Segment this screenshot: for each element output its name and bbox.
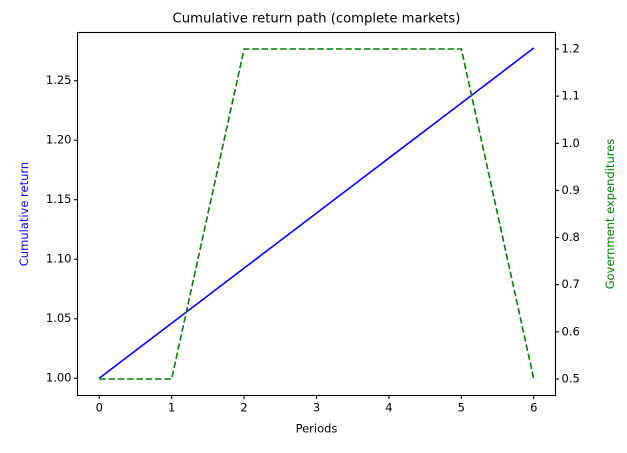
figure-canvas: Cumulative return path (complete markets… <box>0 0 627 453</box>
y-right-tick-label: 0.7 <box>562 277 580 291</box>
y-right-tick-label: 0.6 <box>562 324 580 338</box>
x-tick-label: 4 <box>385 400 392 414</box>
cumulative-return-chart: Cumulative return path (complete markets… <box>0 0 627 453</box>
y-axis-left-label: Cumulative return <box>17 162 31 266</box>
x-tick-label: 5 <box>458 400 465 414</box>
x-axis-ticks: 0123456 <box>96 396 538 415</box>
y-left-tick-label: 1.10 <box>46 252 72 266</box>
y-right-tick-label: 0.5 <box>562 372 580 386</box>
x-tick-label: 6 <box>530 400 537 414</box>
y-right-tick-label: 0.9 <box>562 183 580 197</box>
x-tick-label: 1 <box>168 400 175 414</box>
y-axis-right-ticks: 0.50.60.70.80.91.01.11.2 <box>556 42 580 386</box>
x-tick-label: 3 <box>313 400 320 414</box>
y-axis-left-ticks: 1.001.051.101.151.201.25 <box>46 73 78 385</box>
y-left-tick-label: 1.25 <box>46 73 72 87</box>
y-right-tick-label: 1.1 <box>562 89 580 103</box>
data-series-group <box>99 48 534 379</box>
y-right-tick-label: 0.8 <box>562 230 580 244</box>
x-axis-label: Periods <box>296 421 338 435</box>
y-left-tick-label: 1.00 <box>46 371 72 385</box>
y-left-tick-label: 1.15 <box>46 192 72 206</box>
y-left-tick-label: 1.20 <box>46 133 72 147</box>
y-left-tick-label: 1.05 <box>46 311 72 325</box>
y-axis-right-label: Government expenditures <box>603 139 617 290</box>
x-tick-label: 2 <box>240 400 247 414</box>
chart-title: Cumulative return path (complete markets… <box>173 12 461 27</box>
y-right-tick-label: 1.0 <box>562 136 580 150</box>
y-right-tick-label: 1.2 <box>562 42 580 56</box>
series-line-left <box>99 48 534 378</box>
x-tick-label: 0 <box>96 400 103 414</box>
